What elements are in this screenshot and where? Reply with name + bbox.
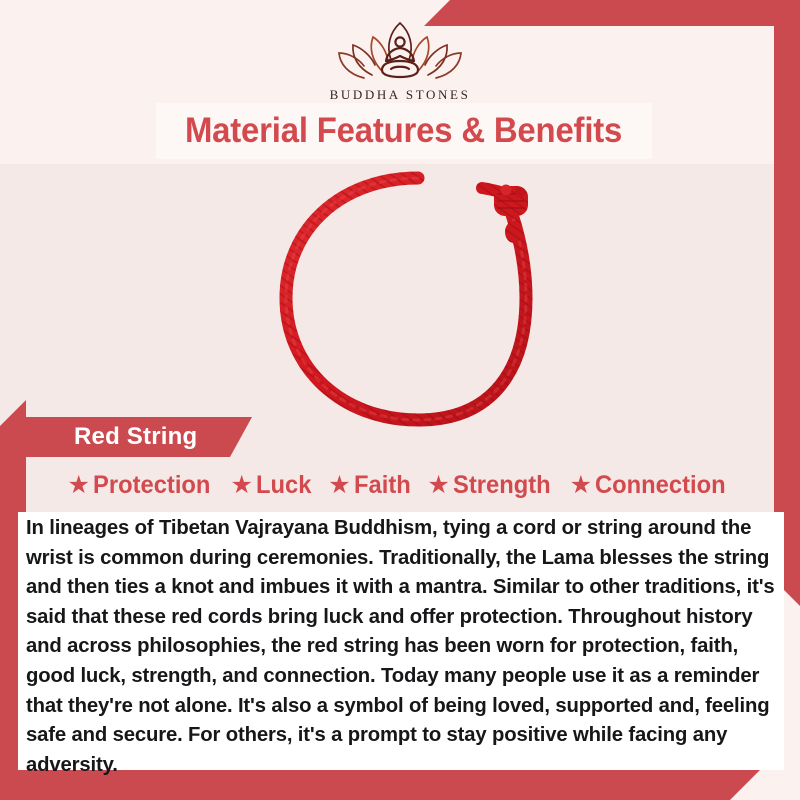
benefits-row: ★ Protection ★ Luck ★ Faith ★ Strength ★…	[0, 465, 800, 505]
title-banner: Material Features & Benefits	[156, 103, 652, 159]
description-text: In lineages of Tibetan Vajrayana Buddhis…	[26, 514, 778, 780]
star-icon: ★	[231, 473, 253, 498]
benefit-label: Luck	[256, 471, 311, 500]
material-label: Red String	[74, 423, 197, 451]
benefit-item: ★ Protection	[67, 471, 216, 500]
brand-name: BUDDHA STONES	[330, 87, 471, 103]
star-icon: ★	[427, 473, 449, 498]
lotus-meditation-icon	[334, 20, 466, 82]
star-icon: ★	[570, 473, 592, 498]
benefit-item: ★ Strength	[427, 471, 555, 500]
benefit-label: Connection	[595, 471, 726, 500]
benefit-label: Faith	[354, 471, 411, 500]
benefit-item: ★ Connection	[570, 471, 733, 500]
red-cord-bracelet-illustration	[268, 170, 568, 432]
star-icon: ★	[328, 473, 350, 498]
infographic-canvas: BUDDHA STONES Material Features & Benefi…	[0, 0, 800, 800]
benefit-item: ★ Luck	[231, 471, 315, 500]
star-icon: ★	[67, 473, 89, 498]
material-label-banner: Red String	[22, 417, 252, 457]
benefit-label: Protection	[93, 471, 210, 500]
brand-logo: BUDDHA STONES	[0, 20, 800, 103]
benefit-item: ★ Faith	[328, 471, 413, 500]
page-title: Material Features & Benefits	[185, 111, 622, 151]
benefit-label: Strength	[453, 471, 551, 500]
product-image	[268, 170, 568, 432]
